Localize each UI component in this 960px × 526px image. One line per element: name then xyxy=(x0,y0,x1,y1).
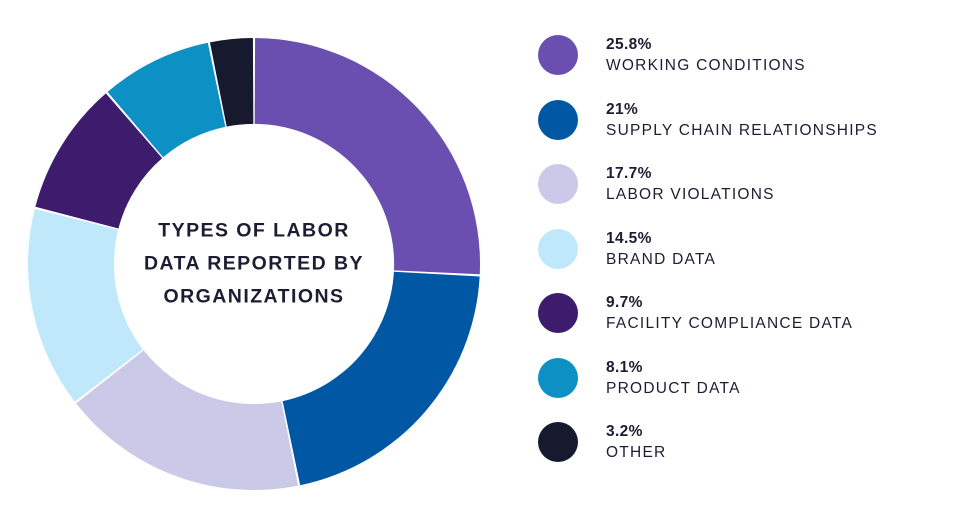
legend-text: 8.1%PRODUCT DATA xyxy=(606,351,741,400)
legend-item[interactable]: 3.2%OTHER xyxy=(538,415,946,480)
legend-text: 3.2%OTHER xyxy=(606,415,667,464)
legend-swatch-icon xyxy=(538,358,578,398)
legend-percent: 9.7% xyxy=(606,292,853,313)
legend-swatch-icon xyxy=(538,229,578,269)
legend-percent: 3.2% xyxy=(606,421,667,442)
legend-swatch-icon xyxy=(538,100,578,140)
legend-text: 9.7%FACILITY COMPLIANCE DATA xyxy=(606,286,853,335)
legend-item[interactable]: 8.1%PRODUCT DATA xyxy=(538,351,946,416)
legend-label: BRAND DATA xyxy=(606,249,716,271)
donut-chart: TYPES OF LABOR DATA REPORTED BY ORGANIZA… xyxy=(28,38,480,490)
legend-swatch-icon xyxy=(538,422,578,462)
legend-percent: 21% xyxy=(606,99,878,120)
legend-item[interactable]: 9.7%FACILITY COMPLIANCE DATA xyxy=(538,286,946,351)
legend-swatch-icon xyxy=(538,293,578,333)
legend-percent: 17.7% xyxy=(606,163,775,184)
donut-slices xyxy=(28,38,480,490)
legend-swatch-icon xyxy=(538,164,578,204)
legend-label: WORKING CONDITIONS xyxy=(606,55,806,77)
legend-item[interactable]: 14.5%BRAND DATA xyxy=(538,222,946,287)
legend-item[interactable]: 17.7%LABOR VIOLATIONS xyxy=(538,157,946,222)
legend-percent: 25.8% xyxy=(606,34,806,55)
legend-label: SUPPLY CHAIN RELATIONSHIPS xyxy=(606,120,878,142)
legend-label: PRODUCT DATA xyxy=(606,378,741,400)
donut-slice[interactable] xyxy=(283,272,480,486)
legend-swatch-icon xyxy=(538,35,578,75)
legend-text: 17.7%LABOR VIOLATIONS xyxy=(606,157,775,206)
donut-slice[interactable] xyxy=(255,38,480,274)
legend-item[interactable]: 25.8%WORKING CONDITIONS xyxy=(538,28,946,93)
legend-percent: 14.5% xyxy=(606,228,716,249)
legend-item[interactable]: 21%SUPPLY CHAIN RELATIONSHIPS xyxy=(538,93,946,158)
legend-label: OTHER xyxy=(606,442,667,464)
legend-label: LABOR VIOLATIONS xyxy=(606,184,775,206)
donut-svg xyxy=(28,38,480,490)
donut-chart-figure: TYPES OF LABOR DATA REPORTED BY ORGANIZA… xyxy=(0,0,960,526)
legend-text: 25.8%WORKING CONDITIONS xyxy=(606,28,806,77)
legend-text: 14.5%BRAND DATA xyxy=(606,222,716,271)
legend-percent: 8.1% xyxy=(606,357,741,378)
chart-legend: 25.8%WORKING CONDITIONS21%SUPPLY CHAIN R… xyxy=(538,28,946,480)
legend-label: FACILITY COMPLIANCE DATA xyxy=(606,313,853,335)
legend-text: 21%SUPPLY CHAIN RELATIONSHIPS xyxy=(606,93,878,142)
